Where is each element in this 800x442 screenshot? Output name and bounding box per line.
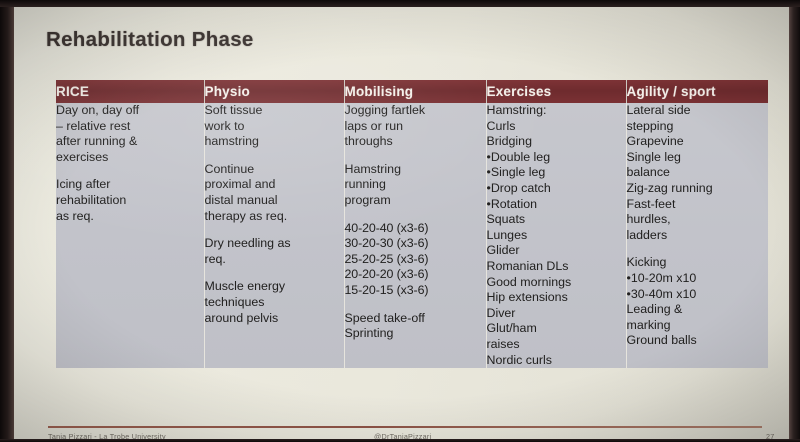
bullet-line: •Single leg — [487, 165, 626, 181]
photo-edge-right — [789, 0, 800, 442]
bullet-line: •Double leg — [487, 150, 626, 166]
text-line: Glut/ham — [487, 321, 626, 337]
text-line: Nordic curls — [487, 353, 626, 369]
text-line: Jogging fartlek — [345, 103, 486, 119]
text-line: proximal and — [205, 177, 344, 193]
cell-block: Day on, day off– relative restafter runn… — [56, 103, 204, 165]
text-line: distal manual — [205, 193, 344, 209]
text-line: Speed take-off — [345, 311, 486, 327]
text-line: Zig-zag running — [627, 181, 769, 197]
table-header-row: RICE Physio Mobilising Exercises Agility… — [56, 80, 768, 103]
text-line: Curls — [487, 119, 626, 135]
text-line: Grapevine — [627, 134, 769, 150]
text-line: ladders — [627, 228, 769, 244]
text-line: 25-20-25 (x3-6) — [345, 252, 486, 268]
cell-block: Hamstring:CurlsBridging•Double leg•Singl… — [487, 103, 626, 368]
text-line: Romanian DLs — [487, 259, 626, 275]
column-header-exercises: Exercises — [486, 80, 626, 103]
column-header-rice: RICE — [56, 80, 204, 103]
cell-block: Speed take-offSprinting — [345, 311, 486, 342]
cell-block: Kicking•10-20m x10•30-40m x10Leading &ma… — [627, 255, 769, 349]
text-line: as req. — [56, 209, 204, 225]
text-line: rehabilitation — [56, 193, 204, 209]
cell-mobilising: Jogging fartleklaps or runthroughsHamstr… — [344, 103, 486, 368]
text-line: – relative rest — [56, 119, 204, 135]
cell-agility: Lateral sidesteppingGrapevineSingle legb… — [626, 103, 768, 368]
cell-block: Soft tissuework tohamstring — [205, 103, 344, 150]
text-line: Squats — [487, 212, 626, 228]
photo-edge-top — [0, 0, 800, 7]
text-line: stepping — [627, 119, 769, 135]
bullet-line: •Drop catch — [487, 181, 626, 197]
text-line: Bridging — [487, 134, 626, 150]
column-header-mobilising: Mobilising — [344, 80, 486, 103]
text-line: Soft tissue — [205, 103, 344, 119]
text-line: raises — [487, 337, 626, 353]
text-line: Ground balls — [627, 333, 769, 349]
text-line: Day on, day off — [56, 103, 204, 119]
page-title: Rehabilitation Phase — [46, 28, 254, 52]
text-line: Hamstring: — [487, 103, 626, 119]
rehabilitation-phase-table: RICE Physio Mobilising Exercises Agility… — [56, 80, 768, 368]
cell-block: Icing afterrehabilitationas req. — [56, 177, 204, 224]
text-line: Muscle energy — [205, 279, 344, 295]
text-line: laps or run — [345, 119, 486, 135]
text-line: after running & — [56, 134, 204, 150]
text-line: techniques — [205, 295, 344, 311]
text-line: throughs — [345, 134, 486, 150]
text-line: program — [345, 193, 486, 209]
text-line: Leading & — [627, 302, 769, 318]
text-line: balance — [627, 165, 769, 181]
text-line: 20-20-20 (x3-6) — [345, 267, 486, 283]
cell-block: Dry needling asreq. — [205, 236, 344, 267]
text-line: marking — [627, 318, 769, 334]
text-line: Lunges — [487, 228, 626, 244]
cell-block: Continueproximal anddistal manualtherapy… — [205, 162, 344, 224]
cell-block: Muscle energytechniquesaround pelvis — [205, 279, 344, 326]
text-line: Hip extensions — [487, 290, 626, 306]
text-line: Icing after — [56, 177, 204, 193]
text-line: Kicking — [627, 255, 769, 271]
cell-block: Hamstringrunningprogram — [345, 162, 486, 209]
text-line: running — [345, 177, 486, 193]
projected-slide-photo: Rehabilitation Phase RICE Physio Mobilis… — [0, 0, 800, 442]
cell-rice: Day on, day off– relative restafter runn… — [56, 103, 204, 368]
text-line: Continue — [205, 162, 344, 178]
text-line: around pelvis — [205, 311, 344, 327]
cell-block: 40-20-40 (x3-6)30-20-30 (x3-6)25-20-25 (… — [345, 221, 486, 299]
text-line: req. — [205, 252, 344, 268]
text-line: work to — [205, 119, 344, 135]
text-line: hurdles, — [627, 212, 769, 228]
cell-block: Jogging fartleklaps or runthroughs — [345, 103, 486, 150]
table-body-row: Day on, day off– relative restafter runn… — [56, 103, 768, 368]
column-header-agility-sport: Agility / sport — [626, 80, 768, 103]
cell-block: Lateral sidesteppingGrapevineSingle legb… — [627, 103, 769, 243]
bullet-line: •10-20m x10 — [627, 271, 769, 287]
text-line: Single leg — [627, 150, 769, 166]
text-line: Glider — [487, 243, 626, 259]
text-line: therapy as req. — [205, 209, 344, 225]
text-line: Hamstring — [345, 162, 486, 178]
text-line: Sprinting — [345, 326, 486, 342]
text-line: hamstring — [205, 134, 344, 150]
text-line: exercises — [56, 150, 204, 166]
cell-physio: Soft tissuework tohamstringContinueproxi… — [204, 103, 344, 368]
cell-exercises: Hamstring:CurlsBridging•Double leg•Singl… — [486, 103, 626, 368]
text-line: Lateral side — [627, 103, 769, 119]
bullet-line: •Rotation — [487, 197, 626, 213]
photo-edge-left — [0, 0, 14, 442]
footer-divider — [48, 426, 762, 428]
text-line: 30-20-30 (x3-6) — [345, 236, 486, 252]
bullet-line: •30-40m x10 — [627, 287, 769, 303]
text-line: 40-20-40 (x3-6) — [345, 221, 486, 237]
column-header-physio: Physio — [204, 80, 344, 103]
slide-canvas: Rehabilitation Phase RICE Physio Mobilis… — [12, 6, 791, 440]
text-line: Dry needling as — [205, 236, 344, 252]
text-line: Diver — [487, 306, 626, 322]
text-line: Good mornings — [487, 275, 626, 291]
text-line: 15-20-15 (x3-6) — [345, 283, 486, 299]
text-line: Fast-feet — [627, 197, 769, 213]
